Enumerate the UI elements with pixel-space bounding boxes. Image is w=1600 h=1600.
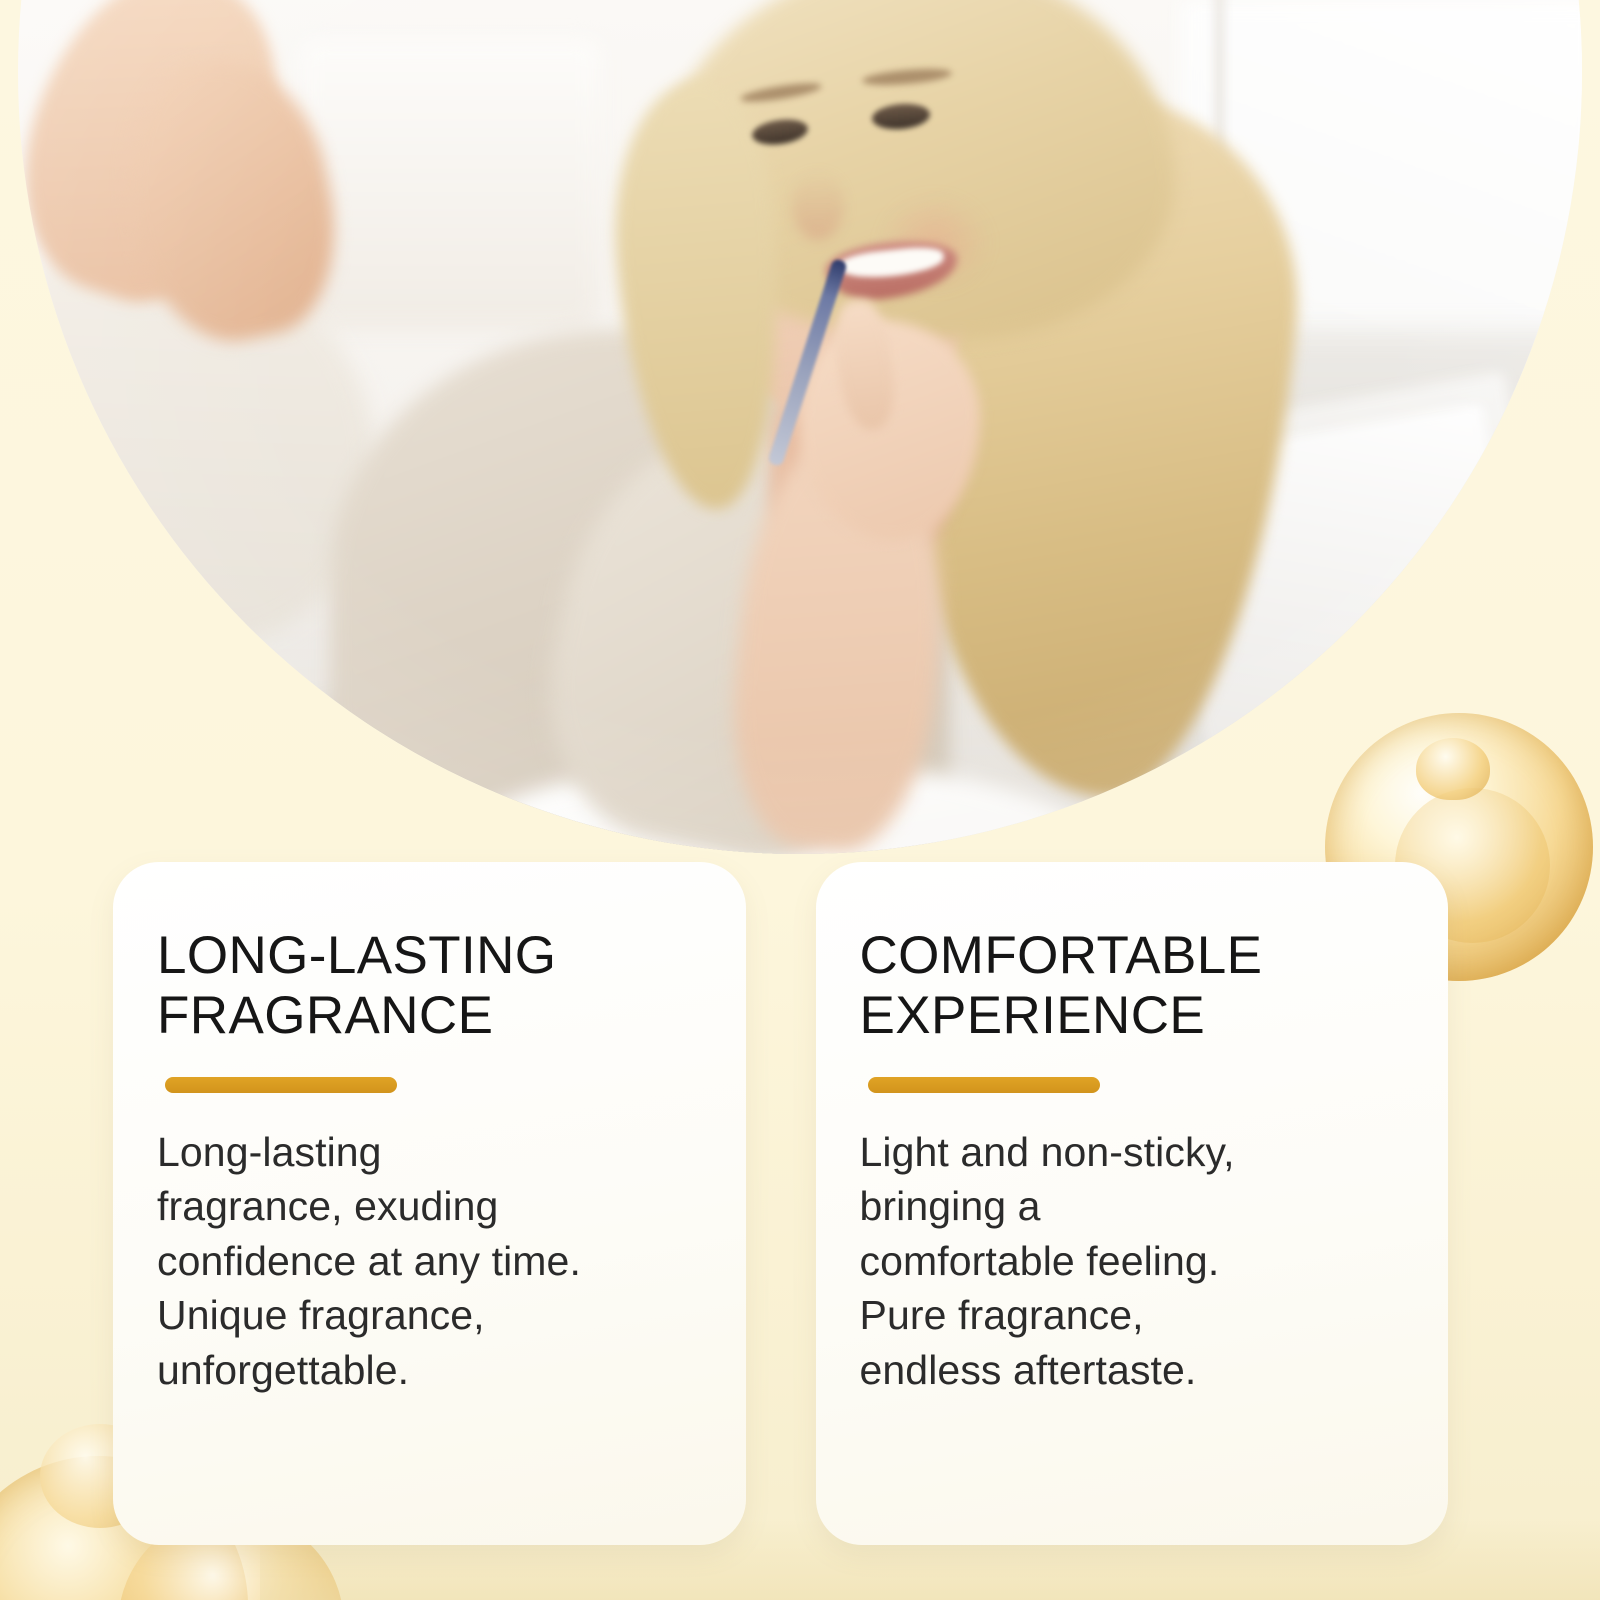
hero-photo-circle xyxy=(18,0,1582,854)
card-body-text: Light and non-sticky, bringing a comfort… xyxy=(860,1125,1397,1398)
card-divider xyxy=(165,1077,397,1093)
feature-card-long-lasting-fragrance: LONG-LASTING FRAGRANCE Long-lasting frag… xyxy=(113,862,746,1545)
photo-vignette xyxy=(18,0,1582,854)
feature-card-comfortable-experience: COMFORTABLE EXPERIENCE Light and non-sti… xyxy=(816,862,1449,1545)
card-title: LONG-LASTING FRAGRANCE xyxy=(157,926,694,1047)
feature-cards: LONG-LASTING FRAGRANCE Long-lasting frag… xyxy=(113,862,1448,1545)
card-body-text: Long-lasting fragrance, exuding confiden… xyxy=(157,1125,694,1398)
product-feature-poster: LONG-LASTING FRAGRANCE Long-lasting frag… xyxy=(0,0,1600,1600)
card-title: COMFORTABLE EXPERIENCE xyxy=(860,926,1397,1047)
hero-photo-image xyxy=(18,0,1582,854)
card-divider xyxy=(868,1077,1100,1093)
